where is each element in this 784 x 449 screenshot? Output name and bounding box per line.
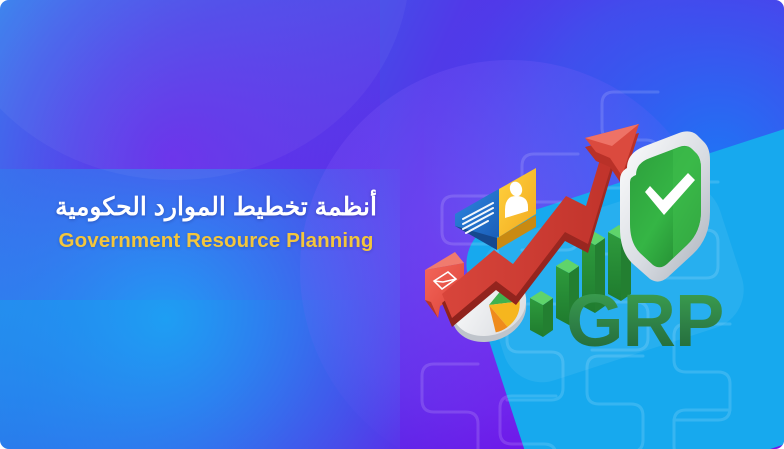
- analytics-pie-chart-icon: [443, 264, 535, 352]
- user-identity-card-icon: [455, 168, 536, 250]
- security-shield-icon: [620, 131, 710, 281]
- cyan-accent-panel-highlight: [470, 173, 754, 393]
- upward-trend-arrow-icon: [442, 124, 639, 327]
- grp-promo-banner: GRP أنظمة تخطيط الموارد الحكومية Governm…: [0, 0, 784, 449]
- grp-logo-text: GRP: [566, 278, 723, 363]
- user-avatar-glyph: [505, 180, 528, 218]
- page-subtitle-english: Government Resource Planning: [0, 229, 432, 253]
- growth-bar-chart-icon: [530, 225, 631, 337]
- email-notification-bubble-icon: [425, 252, 464, 318]
- headline-block: أنظمة تخطيط الموارد الحكومية Government …: [0, 192, 432, 253]
- background-wash-top-left: [0, 0, 380, 300]
- page-title-arabic: أنظمة تخطيط الموارد الحكومية: [0, 192, 432, 223]
- background-arc: [0, 0, 410, 180]
- background-glow-circle: [300, 60, 720, 449]
- background-wash-top-right: [424, 0, 784, 280]
- envelope-icon: [434, 272, 456, 289]
- cyan-accent-panel: [455, 103, 784, 449]
- checkmark-icon: [645, 173, 695, 215]
